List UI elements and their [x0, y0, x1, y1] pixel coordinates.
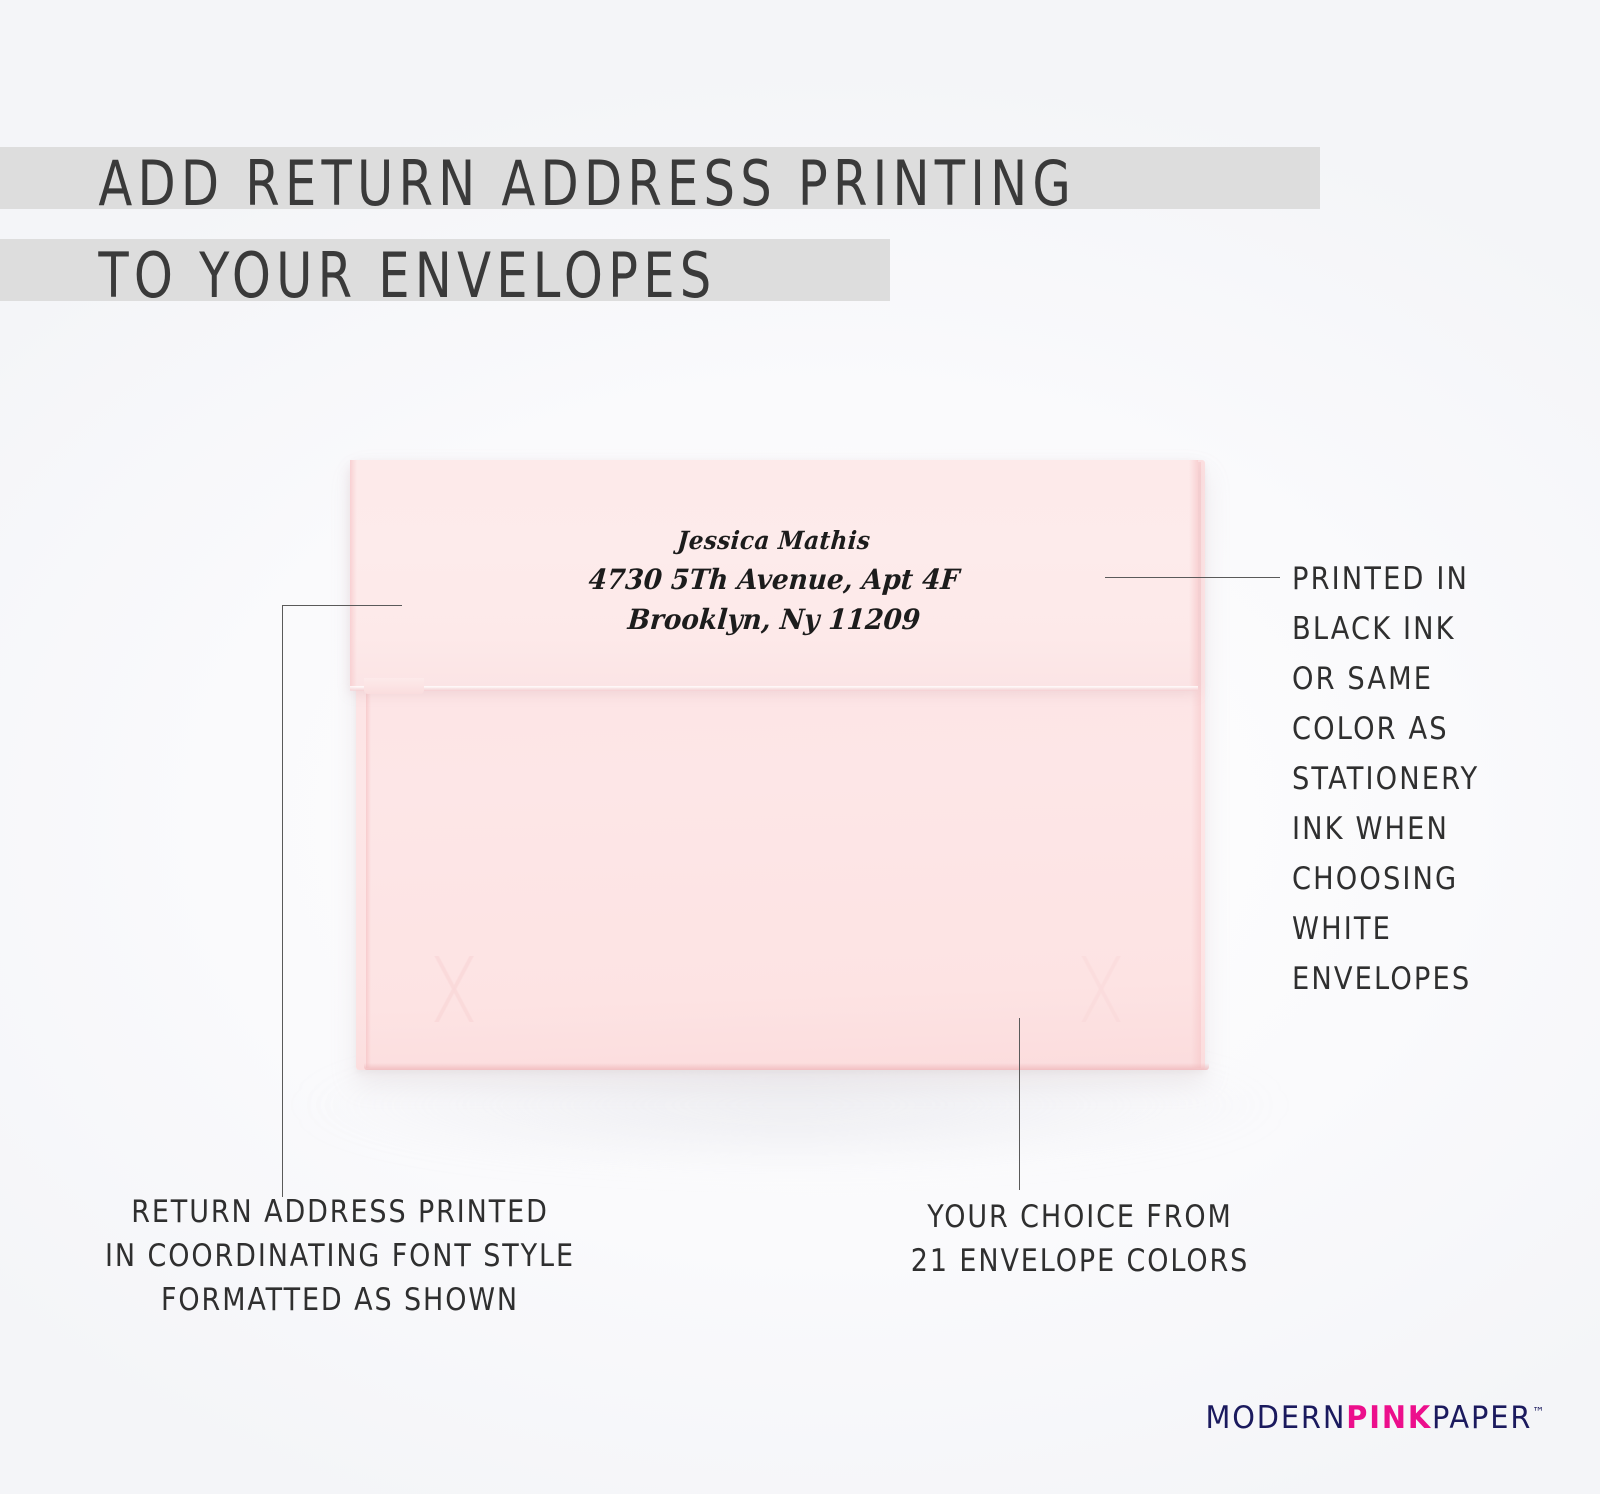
return-address-name: Jessica Mathis	[382, 522, 1165, 560]
envelope-flap-fold-edge	[350, 686, 1198, 691]
trademark-symbol: ™	[1532, 1406, 1544, 1421]
callout-right-line: COLOR AS	[1292, 704, 1556, 754]
callout-right-line: BLACK INK	[1292, 604, 1556, 654]
leader-line-left-horizontal	[282, 605, 402, 606]
return-address-city-state-zip: Brooklyn, Ny 11209	[374, 600, 1174, 640]
callout-right-line: WHITE	[1292, 904, 1556, 954]
callout-bottom-center-line: 21 ENVELOPE COLORS	[889, 1239, 1272, 1283]
headline-line-1: ADD RETURN ADDRESS PRINTING	[0, 138, 1400, 230]
callout-right-line: PRINTED IN	[1292, 554, 1556, 604]
leader-line-right	[1105, 577, 1280, 578]
callout-bottom-left-line: FORMATTED AS SHOWN	[70, 1278, 609, 1322]
headline-line-2: TO YOUR ENVELOPES	[0, 230, 1400, 322]
leader-line-center-vertical	[1019, 1018, 1020, 1190]
envelope-bottom-left-seam	[402, 956, 512, 1022]
headline-line-2-text: TO YOUR ENVELOPES	[0, 230, 716, 322]
envelope-product-photo: Jessica Mathis 4730 5Th Avenue, Apt 4F B…	[350, 460, 1205, 1070]
envelope-flap-corner-tab	[364, 678, 424, 694]
return-address-print: Jessica Mathis 4730 5Th Avenue, Apt 4F B…	[350, 522, 1198, 640]
callout-right-line: ENVELOPES	[1292, 954, 1556, 1004]
callout-right-line: STATIONERY	[1292, 754, 1556, 804]
callout-return-address-font: RETURN ADDRESS PRINTED IN COORDINATING F…	[70, 1190, 609, 1322]
brand-logo[interactable]: MODERNPINKPAPER™	[1205, 1400, 1544, 1436]
callout-printed-ink-color: PRINTED IN BLACK INK OR SAME COLOR AS ST…	[1292, 554, 1556, 1004]
headline-line-1-text: ADD RETURN ADDRESS PRINTING	[0, 138, 1076, 230]
page-title: ADD RETURN ADDRESS PRINTING TO YOUR ENVE…	[0, 138, 1400, 322]
envelope-bottom-right-seam	[1049, 956, 1159, 1022]
callout-bottom-left-line: RETURN ADDRESS PRINTED	[70, 1190, 609, 1234]
callout-right-line: CHOOSING	[1292, 854, 1556, 904]
callout-envelope-colors: YOUR CHOICE FROM 21 ENVELOPE COLORS	[889, 1195, 1272, 1283]
logo-word-modern: MODERN	[1205, 1400, 1346, 1436]
callout-right-line: OR SAME	[1292, 654, 1556, 704]
callout-bottom-left-line: IN COORDINATING FONT STYLE	[70, 1234, 609, 1278]
callout-right-line: INK WHEN	[1292, 804, 1556, 854]
logo-word-pink: PINK	[1346, 1400, 1432, 1436]
return-address-street: 4730 5Th Avenue, Apt 4F	[374, 560, 1174, 600]
envelope-bottom-edge	[364, 1063, 1209, 1070]
callout-bottom-center-line: YOUR CHOICE FROM	[889, 1195, 1272, 1239]
leader-line-left-vertical	[282, 605, 283, 1197]
logo-word-paper: PAPER	[1432, 1400, 1532, 1436]
